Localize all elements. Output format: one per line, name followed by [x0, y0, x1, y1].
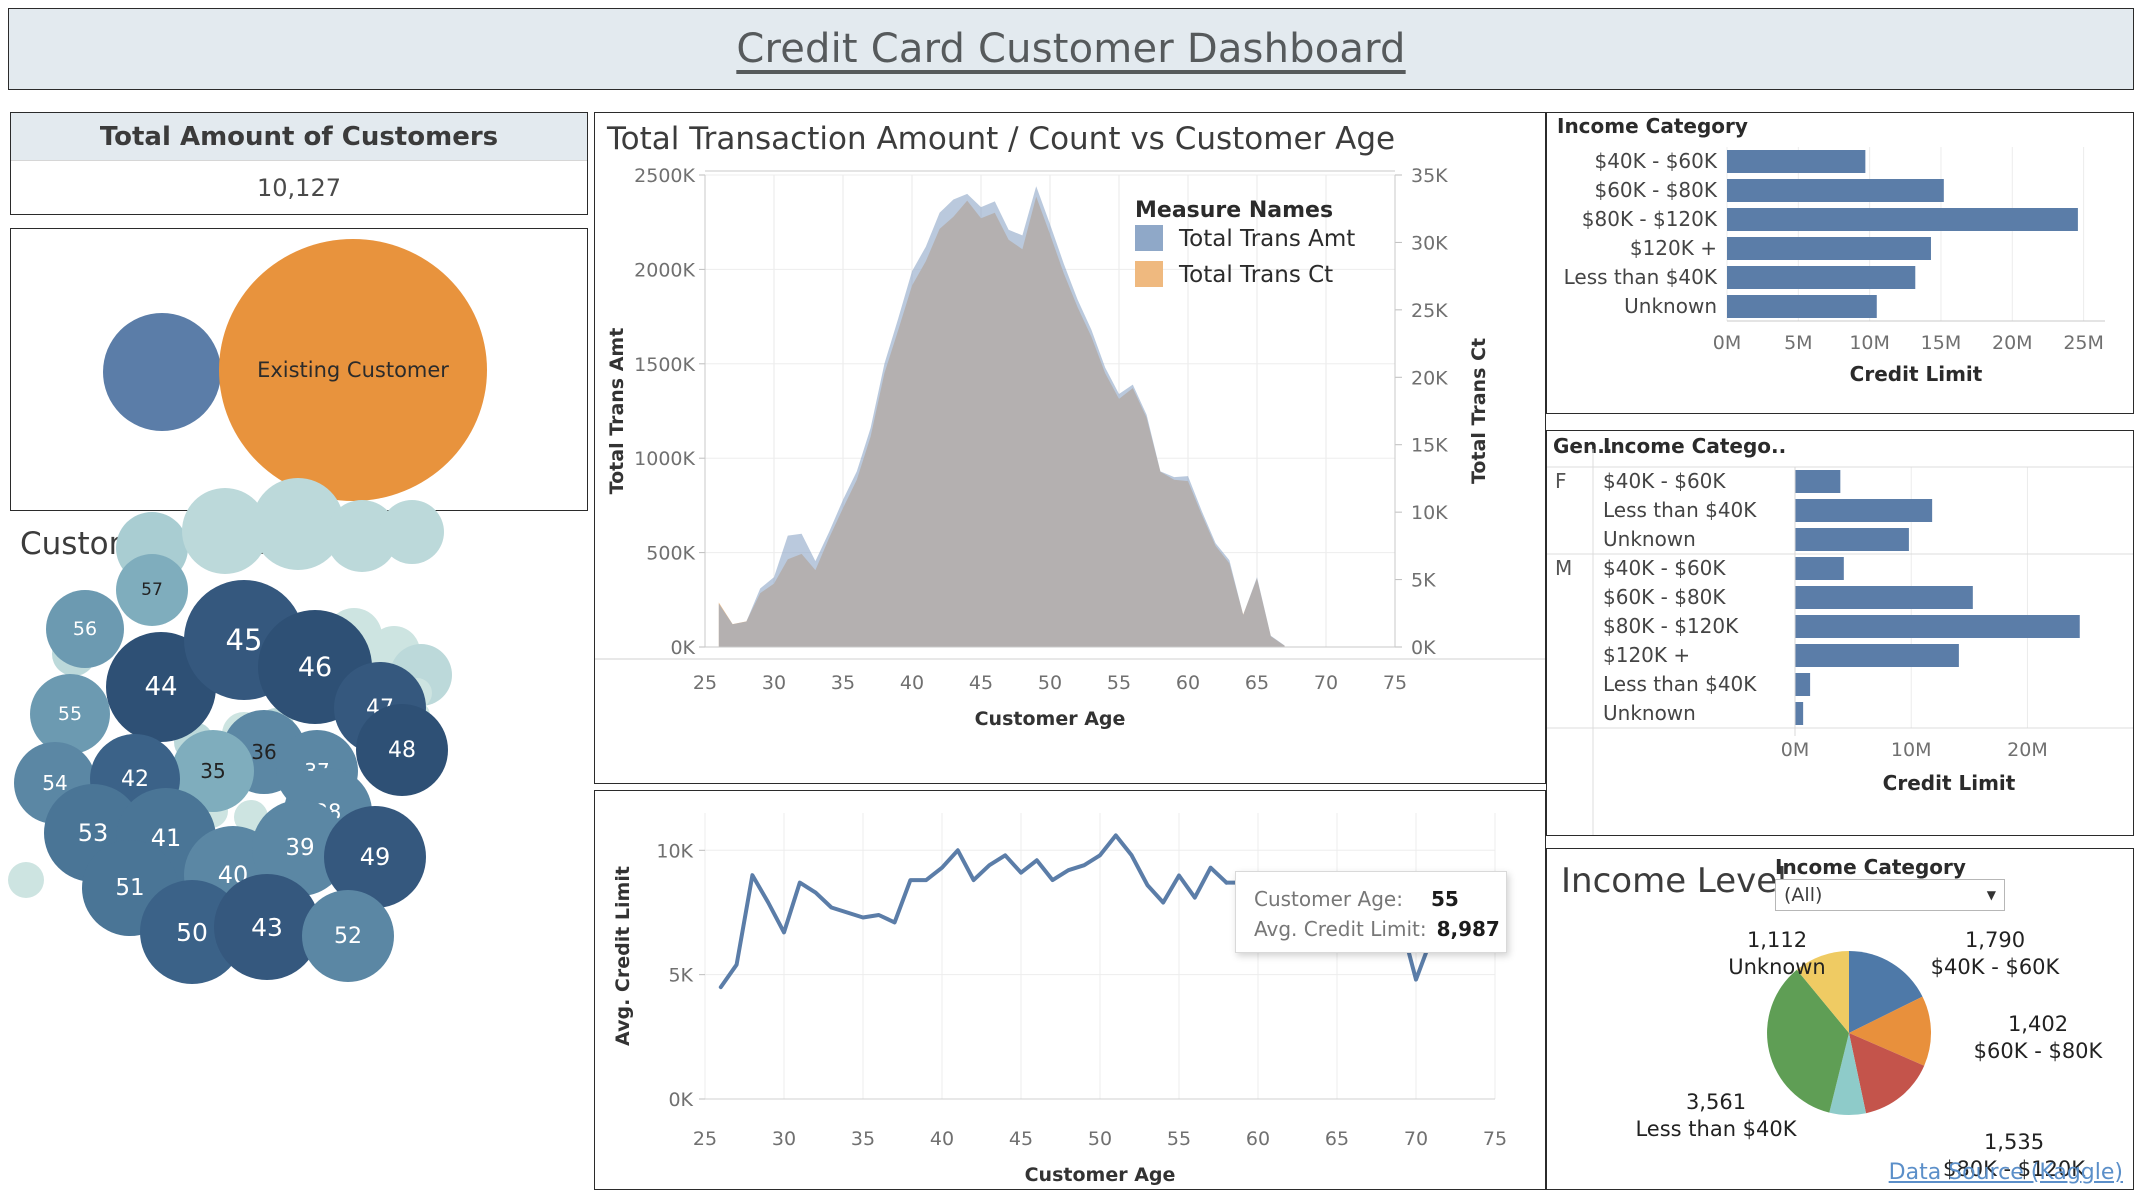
line-chart-panel: 0K5K10K2530354045505560657075Customer Ag… — [594, 790, 1546, 1190]
svg-text:20M: 20M — [2007, 739, 2048, 761]
age-bubble[interactable] — [8, 862, 44, 898]
svg-text:Less than $40K: Less than $40K — [1564, 265, 1718, 289]
svg-text:35: 35 — [851, 1128, 875, 1150]
tooltip-limit-label: Avg. Credit Limit: — [1254, 914, 1427, 944]
svg-text:0M: 0M — [1781, 739, 1809, 761]
area-chart-title: Total Transaction Amount / Count vs Cust… — [595, 113, 1545, 157]
svg-text:2000K: 2000K — [634, 259, 695, 281]
svg-text:70: 70 — [1404, 1128, 1428, 1150]
svg-text:15K: 15K — [1411, 435, 1448, 457]
svg-text:Total Trans Amt: Total Trans Amt — [606, 328, 628, 495]
pie-slice-label: 3,561Less than $40K — [1611, 1089, 1821, 1144]
svg-text:35: 35 — [831, 672, 855, 694]
age-bubble-55[interactable]: 55 — [30, 674, 110, 754]
svg-text:Avg. Credit Limit: Avg. Credit Limit — [612, 866, 634, 1046]
income-bar-chart-svg[interactable]: Income Category0M5M10M15M20M25M$40K - $6… — [1547, 113, 2133, 413]
svg-text:5K: 5K — [668, 965, 693, 987]
svg-text:Income Category: Income Category — [1557, 114, 1748, 138]
svg-text:75: 75 — [1383, 672, 1407, 694]
svg-text:$80K - $120K: $80K - $120K — [1603, 614, 1739, 638]
svg-text:Credit Limit: Credit Limit — [1850, 362, 1983, 386]
svg-text:60: 60 — [1246, 1128, 1270, 1150]
svg-text:Unknown: Unknown — [1603, 527, 1696, 551]
credit-limit-by-gender-income-panel: Gen..Income Catego..0M10M20MF$40K - $60K… — [1546, 430, 2134, 836]
svg-text:20K: 20K — [1411, 367, 1448, 389]
kpi-value: 10,127 — [11, 161, 587, 214]
svg-text:$40K - $60K: $40K - $60K — [1594, 149, 1717, 173]
pie-slice-label: 1,112Unknown — [1697, 927, 1857, 982]
svg-text:45: 45 — [969, 672, 993, 694]
svg-text:2500K: 2500K — [634, 165, 695, 187]
customer-type-panel: Existing Customer — [10, 228, 588, 511]
age-distribution-panel: Customer Age Distribution 57565554444546… — [8, 520, 588, 1190]
svg-text:10K: 10K — [1411, 502, 1448, 524]
line-chart-tooltip: Customer Age: 55 Avg. Credit Limit: 8,98… — [1235, 871, 1507, 953]
svg-text:15M: 15M — [1921, 332, 1962, 354]
svg-text:F: F — [1555, 469, 1567, 493]
svg-text:Customer Age: Customer Age — [975, 708, 1126, 730]
svg-text:30: 30 — [762, 672, 786, 694]
age-bubble-56[interactable]: 56 — [46, 590, 124, 668]
kpi-label: Total Amount of Customers — [11, 113, 587, 161]
credit-limit-by-income-panel: Income Category0M5M10M15M20M25M$40K - $6… — [1546, 112, 2134, 414]
svg-text:25: 25 — [693, 1128, 717, 1150]
svg-text:$60K - $80K: $60K - $80K — [1603, 585, 1726, 609]
svg-text:40: 40 — [900, 672, 924, 694]
svg-text:30: 30 — [772, 1128, 796, 1150]
svg-text:Total Trans Ct: Total Trans Ct — [1468, 338, 1490, 484]
svg-text:70: 70 — [1314, 672, 1338, 694]
kpi-total-customers: Total Amount of Customers 10,127 — [10, 112, 588, 215]
dashboard-root: Credit Card Customer Dashboard Total Amo… — [0, 0, 2142, 1204]
svg-text:M: M — [1555, 556, 1572, 580]
svg-text:55: 55 — [1167, 1128, 1191, 1150]
svg-text:$60K - $80K: $60K - $80K — [1594, 178, 1717, 202]
tooltip-limit-value: 8,987 — [1437, 914, 1500, 944]
gender-income-bar-chart-svg[interactable]: Gen..Income Catego..0M10M20MF$40K - $60K… — [1547, 431, 2133, 835]
svg-text:0M: 0M — [1713, 332, 1741, 354]
svg-text:$80K - $120K: $80K - $120K — [1582, 207, 1718, 231]
svg-text:25K: 25K — [1411, 300, 1448, 322]
svg-text:Credit Limit: Credit Limit — [1883, 771, 2016, 795]
svg-text:Income Catego..: Income Catego.. — [1603, 434, 1786, 458]
svg-text:$40K - $60K: $40K - $60K — [1603, 469, 1726, 493]
svg-text:Unknown: Unknown — [1603, 701, 1696, 725]
age-bubble-48[interactable]: 48 — [356, 704, 448, 796]
svg-text:50: 50 — [1038, 672, 1062, 694]
svg-text:500K: 500K — [646, 543, 695, 565]
svg-text:65: 65 — [1325, 1128, 1349, 1150]
svg-text:10M: 10M — [1891, 739, 1932, 761]
svg-text:Total Trans Ct: Total Trans Ct — [1178, 262, 1333, 288]
attrited-customer-bubble[interactable] — [103, 313, 221, 431]
area-chart-svg[interactable]: 0K500K1000K1500K2000K2500K0K5K10K15K20K2… — [595, 157, 1545, 777]
existing-customer-bubble[interactable]: Existing Customer — [219, 239, 487, 501]
age-bubble[interactable] — [380, 500, 444, 564]
tooltip-age-value: 55 — [1431, 884, 1459, 914]
page-title: Credit Card Customer Dashboard — [736, 26, 1405, 72]
svg-text:10M: 10M — [1849, 332, 1890, 354]
svg-text:$40K - $60K: $40K - $60K — [1603, 556, 1726, 580]
svg-text:$120K +: $120K + — [1603, 643, 1690, 667]
svg-text:5M: 5M — [1784, 332, 1812, 354]
svg-text:$120K +: $120K + — [1630, 236, 1717, 260]
svg-text:45: 45 — [1009, 1128, 1033, 1150]
svg-text:Unknown: Unknown — [1624, 294, 1717, 318]
svg-text:0K: 0K — [668, 1089, 693, 1111]
svg-text:Less than $40K: Less than $40K — [1603, 498, 1757, 522]
income-category-filter-label: Income Category — [1775, 855, 2005, 879]
svg-text:60: 60 — [1176, 672, 1200, 694]
existing-customer-label: Existing Customer — [257, 358, 449, 382]
age-bubble-52[interactable]: 52 — [302, 890, 394, 982]
pie-slice-label: 1,790$40K - $60K — [1905, 927, 2085, 982]
pie-slice-label: 1,402$60K - $80K — [1943, 1011, 2133, 1066]
data-source-link[interactable]: Data Source (Kaggle) — [1889, 1160, 2123, 1185]
income-level-panel: Income Level Income Category (All) ▼ 1,7… — [1546, 848, 2134, 1190]
line-chart-svg[interactable]: 0K5K10K2530354045505560657075Customer Ag… — [595, 791, 1545, 1189]
svg-text:35K: 35K — [1411, 165, 1448, 187]
area-chart-panel: Total Transaction Amount / Count vs Cust… — [594, 112, 1546, 784]
age-bubble-57[interactable]: 57 — [116, 554, 188, 626]
age-bubble-pack[interactable]: 5756555444454647363537483842534140394951… — [8, 562, 588, 1184]
svg-text:Measure Names: Measure Names — [1135, 198, 1333, 223]
svg-text:1500K: 1500K — [634, 354, 695, 376]
svg-text:5K: 5K — [1411, 570, 1436, 592]
svg-text:10K: 10K — [656, 840, 693, 862]
svg-text:50: 50 — [1088, 1128, 1112, 1150]
tooltip-age-label: Customer Age: — [1254, 884, 1403, 914]
svg-text:0K: 0K — [670, 637, 695, 659]
svg-text:30K: 30K — [1411, 232, 1448, 254]
svg-text:0K: 0K — [1411, 637, 1436, 659]
svg-text:25M: 25M — [2063, 332, 2104, 354]
svg-text:Total Trans Amt: Total Trans Amt — [1178, 226, 1355, 252]
dashboard-title-bar: Credit Card Customer Dashboard — [8, 8, 2134, 90]
svg-text:Customer Age: Customer Age — [1025, 1164, 1176, 1186]
svg-text:25: 25 — [693, 672, 717, 694]
svg-text:65: 65 — [1245, 672, 1269, 694]
svg-text:75: 75 — [1483, 1128, 1507, 1150]
svg-text:20M: 20M — [1992, 332, 2033, 354]
svg-text:1000K: 1000K — [634, 448, 695, 470]
svg-text:55: 55 — [1107, 672, 1131, 694]
svg-text:40: 40 — [930, 1128, 954, 1150]
svg-text:Less than $40K: Less than $40K — [1603, 672, 1757, 696]
